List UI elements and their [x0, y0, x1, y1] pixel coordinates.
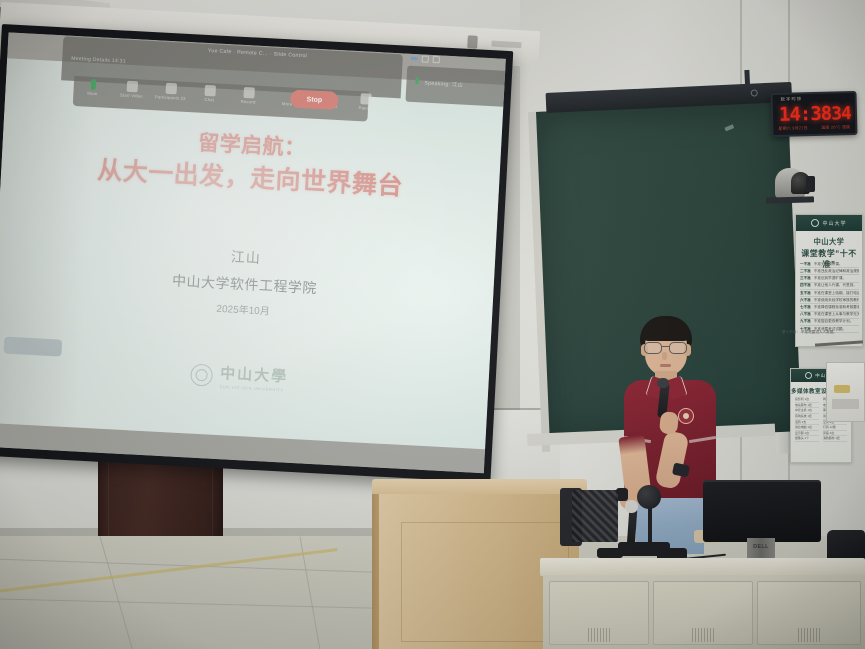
minimize-icon[interactable]: [411, 57, 418, 60]
screen-brand-logo: [491, 41, 521, 49]
poster2-seal-icon: [805, 372, 812, 379]
wall-equipment-box: [826, 362, 865, 422]
projection-screen: 留学启航： 从大一出发，走向世界舞台 江山 中山大学软件工程学院 2025年10…: [0, 24, 513, 483]
clock-header: 数字时钟: [781, 96, 803, 103]
poster-rule-item: 一不准不准无故调停课。: [800, 261, 859, 268]
cabinet-vent: [588, 628, 610, 642]
clock-seconds: 34: [831, 103, 851, 124]
led-wall-clock: 数字时钟 14:38 34 星期六 9月27日 温度 26°C 湿度: [770, 91, 857, 137]
lectern-top: [372, 479, 587, 495]
microphone-icon: [90, 79, 96, 90]
chalk-mark: [724, 124, 734, 131]
poster-rule-item: 四不准不准让他人代课、代签到。: [800, 283, 859, 290]
poster-rule-item: 二不准不准违反政治纪律和政治规矩。: [800, 268, 859, 275]
toolbar-button-participants[interactable]: Participants 23: [155, 82, 186, 101]
cabinet-door[interactable]: [653, 581, 753, 645]
toolbar-label-pause: Pause: [358, 105, 371, 111]
cabinet-door[interactable]: [549, 581, 649, 645]
camera-mount-shelf: [766, 196, 814, 203]
gooseneck-microphone-head-icon: [637, 485, 661, 509]
maximize-icon[interactable]: [422, 55, 429, 62]
chat-bubble-icon: [204, 85, 216, 97]
poster-teaching-rules: 中山大学 中山大学 课堂教学“十不准” 一不准不准无故调停课。 二不准不准违反政…: [795, 214, 863, 347]
clock-footer: 星期六 9月27日 温度 26°C 湿度: [778, 124, 850, 132]
record-icon: [243, 87, 255, 99]
video-camera-icon: [126, 81, 138, 93]
presenter-hair-front: [642, 319, 690, 341]
teacher-console-desk: [540, 558, 865, 649]
presentation-slide: 留学启航： 从大一出发，走向世界舞台 江山 中山大学软件工程学院 2025年10…: [0, 58, 504, 449]
clock-hour-minute: 14:38: [779, 103, 832, 126]
university-seal-icon: [191, 363, 214, 386]
rail-knob-icon[interactable]: [751, 89, 758, 96]
participants-icon: [165, 83, 177, 95]
toolbar-button-record[interactable]: Record: [233, 86, 264, 105]
presenter-nose: [662, 352, 667, 360]
cabinet-door[interactable]: [757, 581, 861, 645]
toolbar-button-pause[interactable]: Pause: [350, 93, 381, 112]
poster-seal-icon: [811, 219, 819, 227]
cabinet-vent: [692, 628, 714, 642]
clock-temperature: 温度 26°C 湿度: [821, 124, 850, 131]
clock-display: 14:38 34: [779, 102, 850, 126]
presenter-mouth: [660, 364, 671, 367]
stop-share-button[interactable]: Stop: [290, 89, 339, 110]
toolbar-label-chat: Chat: [204, 97, 214, 103]
poster-rule-item: 五不准不准在课堂上吸烟、接打电话。: [800, 290, 859, 297]
cabinet-vent: [798, 628, 820, 642]
clock-date: 星期六 9月27日: [778, 125, 808, 132]
monitor-screen: [703, 480, 821, 542]
toolbar-button-start-video[interactable]: Start Video: [116, 80, 147, 99]
speaking-mic-icon: [415, 77, 418, 84]
pause-icon: [360, 93, 372, 105]
poster-rule-item: 八不准不准在课堂上从事与教学无关的活动。: [800, 312, 859, 319]
meeting-window-icons[interactable]: [411, 55, 440, 64]
slide-title: 留学启航： 从大一出发，走向世界舞台: [1, 118, 502, 210]
desk-equipment: [597, 548, 623, 558]
poster-header: 中山大学: [796, 215, 862, 231]
camera-side-module: [806, 176, 815, 192]
monitor-brand-label: DELL: [751, 542, 771, 551]
screen-surface: 留学启航： 从大一出发，走向世界舞台 江山 中山大学软件工程学院 2025年10…: [0, 32, 506, 473]
screen-control-button[interactable]: [467, 35, 478, 49]
classroom-photo-scene: 留学启航： 从大一出发，走向世界舞台 江山 中山大学软件工程学院 2025年10…: [0, 0, 865, 649]
mesh-basket: [572, 490, 618, 542]
poster-rule-item: 三不准不准迟到早退旷课。: [800, 275, 859, 282]
toolbar-label-record: Record: [241, 99, 256, 105]
poster2-column-a: 投影机 1台 电动幕布 1套 中控主机 1台 音响系统 1套 话筒 2支 讲台电…: [795, 397, 819, 442]
poster-rule-list: 一不准不准无故调停课。 二不准不准违反政治纪律和政治规矩。 三不准不准迟到早退旷…: [800, 261, 859, 333]
screen-share-indicator[interactable]: [3, 337, 62, 357]
desk-microphone-head-icon: [625, 500, 638, 513]
university-name-cn: 中山大學: [220, 362, 289, 387]
poster-rule-item: 六不准不准使用未经学校审核的教材。: [800, 297, 859, 304]
desk-surface: [540, 558, 865, 576]
dell-monitor[interactable]: DELL: [703, 480, 821, 560]
poster-rule-item: 九不准不准擅自更改教学计划。: [800, 319, 859, 326]
poster-org-name: 中山大学: [822, 220, 846, 227]
presenter-shirt-badge: [678, 408, 694, 424]
university-logo: 中山大學 SUN YAT-SEN UNIVERSITY: [0, 350, 489, 403]
toolbar-label-mute: Mute: [87, 91, 97, 97]
desk-cabinet: [543, 575, 865, 649]
poster-title-line1: 中山大学: [796, 237, 862, 247]
microphone-head-icon: [657, 378, 669, 388]
toolbar-button-chat[interactable]: Chat: [194, 84, 225, 103]
layout-icon[interactable]: [433, 56, 440, 63]
wall-note-text: 第十不准： 不准泄露进入人数据。: [782, 330, 837, 335]
poster-rule-item: 七不准不准降低课程标准和考核要求。: [800, 304, 859, 311]
toolbar-button-mute[interactable]: Mute: [77, 78, 108, 97]
